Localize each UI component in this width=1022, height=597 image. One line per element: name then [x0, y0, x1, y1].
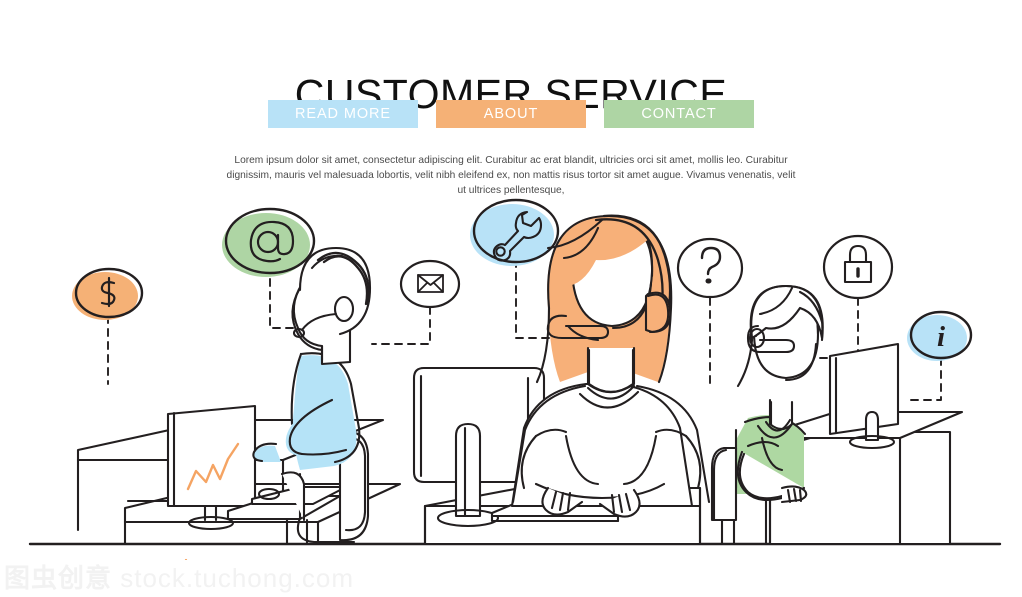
- call-center-scene: i: [0, 188, 1022, 560]
- read-more-button[interactable]: READ MORE: [268, 100, 418, 128]
- at-bubble[interactable]: [222, 209, 314, 277]
- connector-info: [906, 358, 941, 400]
- connector-envelope: [372, 307, 430, 344]
- dollar-bubble[interactable]: [72, 269, 142, 320]
- nav-buttons: READ MORE ABOUT CONTACT: [0, 100, 1022, 128]
- lock-bubble[interactable]: [824, 236, 892, 298]
- connector-wrench: [516, 260, 552, 338]
- svg-text:i: i: [937, 321, 945, 353]
- illustration-canvas: i: [0, 188, 1022, 560]
- illustration-page: CUSTOMER SERVICE READ MORE ABOUT CONTACT…: [0, 0, 1022, 597]
- question-bubble[interactable]: [678, 239, 742, 297]
- watermark-en: stock.tuchong.com: [120, 563, 354, 593]
- info-bubble[interactable]: i: [907, 312, 971, 361]
- about-button[interactable]: ABOUT: [436, 100, 586, 128]
- wrench-bubble[interactable]: [470, 200, 558, 266]
- contact-button[interactable]: CONTACT: [604, 100, 754, 128]
- info-icon: i: [937, 321, 945, 353]
- watermark-cn: 图虫创意: [4, 563, 112, 593]
- watermark: 图虫创意 stock.tuchong.com: [4, 558, 354, 595]
- monitor-left: [168, 406, 255, 560]
- envelope-bubble[interactable]: [401, 261, 459, 307]
